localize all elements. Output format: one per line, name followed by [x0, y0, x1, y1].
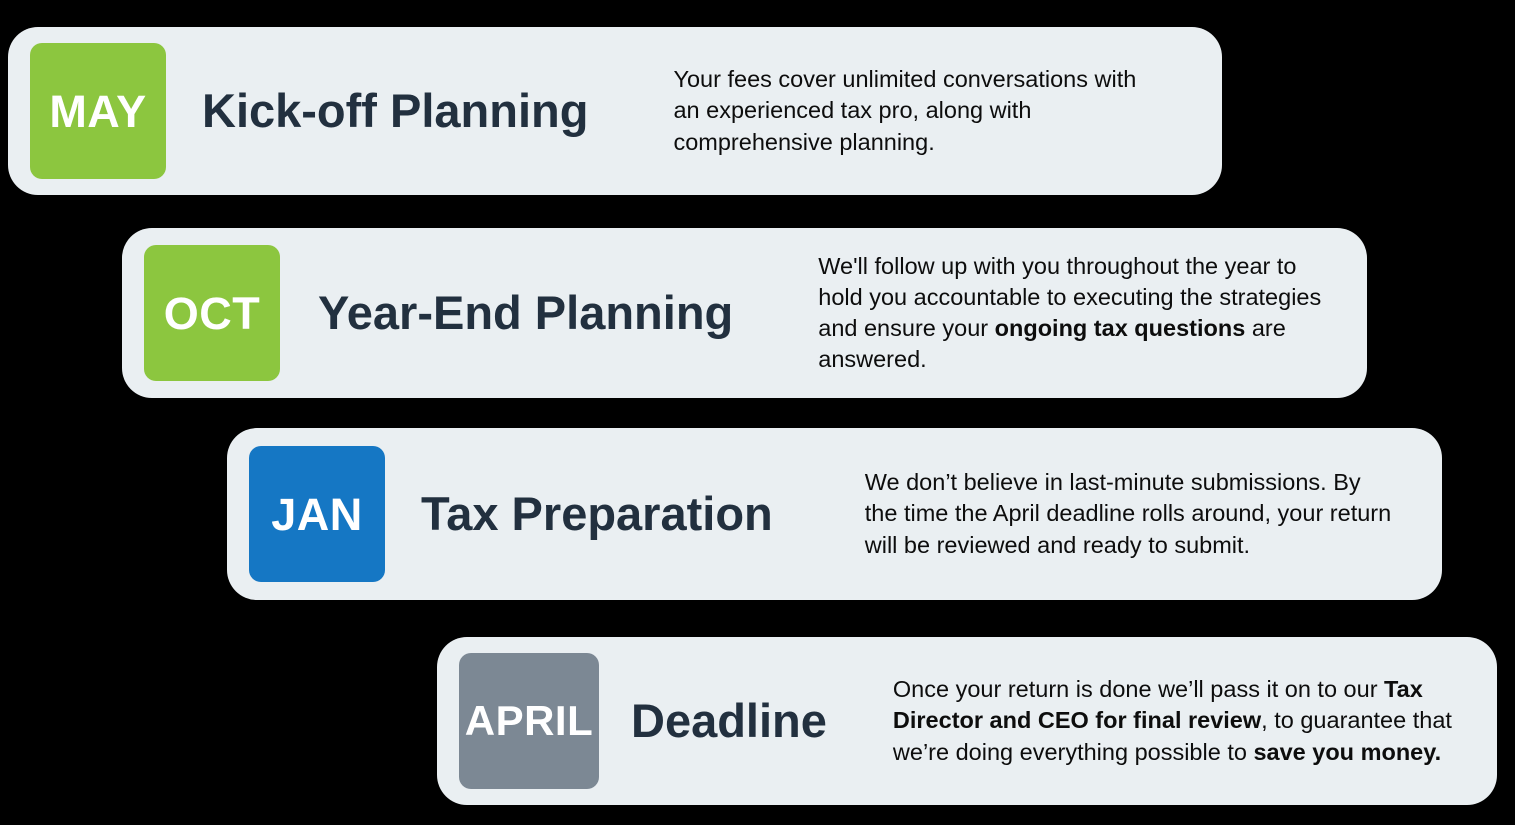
- timeline-step-card: OCT Year-End Planning We'll follow up wi…: [122, 228, 1367, 398]
- step-title: Tax Preparation: [421, 489, 773, 538]
- step-description: Once your return is done we’ll pass it o…: [893, 674, 1461, 768]
- timeline-step-card: APRIL Deadline Once your return is done …: [437, 637, 1497, 805]
- step-title: Year-End Planning: [318, 288, 733, 337]
- month-badge: APRIL: [459, 653, 599, 789]
- month-badge: OCT: [144, 245, 280, 381]
- month-badge: JAN: [249, 446, 385, 582]
- timeline-graphic: MAY Kick-off Planning Your fees cover un…: [0, 0, 1515, 825]
- timeline-step-card: MAY Kick-off Planning Your fees cover un…: [8, 27, 1222, 195]
- step-description: We'll follow up with you throughout the …: [818, 251, 1323, 376]
- step-title: Deadline: [631, 696, 827, 745]
- step-description: Your fees cover unlimited conversations …: [673, 64, 1165, 158]
- timeline-step-card: JAN Tax Preparation We don’t believe in …: [227, 428, 1442, 600]
- month-badge: MAY: [30, 43, 166, 179]
- step-description: We don’t believe in last-minute submissi…: [865, 467, 1393, 561]
- step-title: Kick-off Planning: [202, 86, 588, 135]
